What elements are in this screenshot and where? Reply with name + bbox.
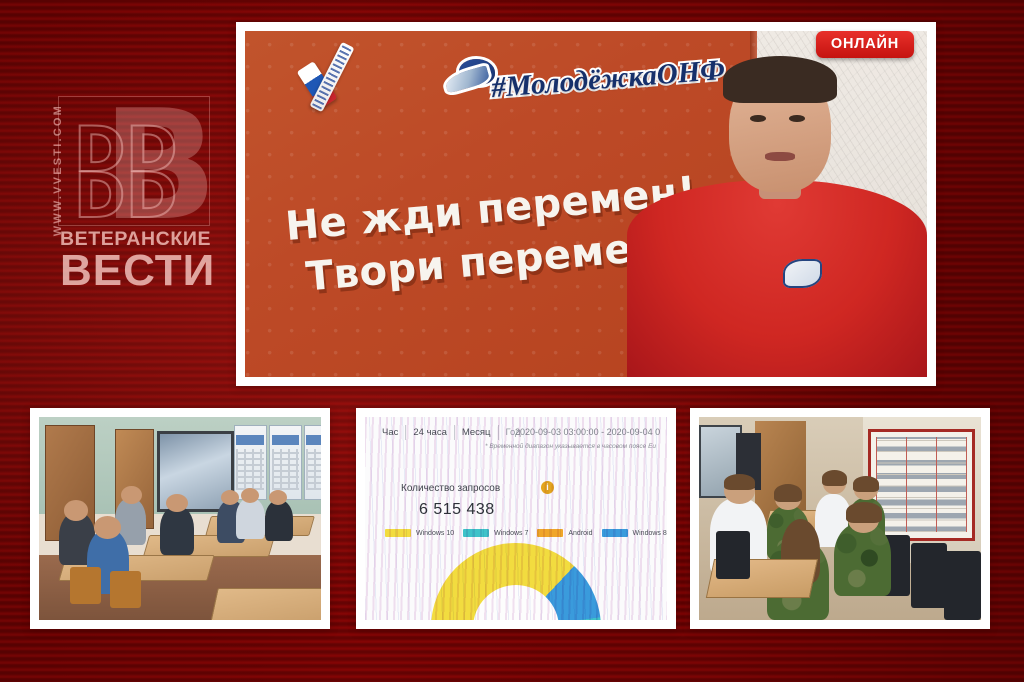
person-hair bbox=[774, 484, 802, 502]
wall-poster bbox=[304, 425, 321, 500]
platforms-donut-chart: Платформы bbox=[431, 543, 601, 620]
classroom-chair bbox=[110, 571, 141, 608]
cadets-photo bbox=[699, 417, 981, 620]
date-range-value[interactable]: 2020-09-03 03:00:00 - 2020-09-04 0 bbox=[515, 427, 660, 437]
thumb-classroom-students[interactable] bbox=[30, 408, 330, 629]
logo-monogram-b2: D bbox=[74, 168, 125, 224]
tab-24-hours[interactable]: 24 часа bbox=[406, 425, 454, 440]
tab-hour[interactable]: Час bbox=[375, 425, 406, 440]
wall-poster bbox=[269, 425, 302, 500]
classroom-chair bbox=[70, 567, 101, 604]
analytics-screen-photo: Час 24 часа Месяц Год 2020-09-03 03:00:0… bbox=[365, 417, 667, 620]
veteranskie-vesti-logo: WWW.VVESTI.COM B D D D D ВЕТЕРАНСКИЕ ВЕС… bbox=[36, 96, 212, 292]
time-range-tabs[interactable]: Час 24 часа Месяц Год bbox=[375, 425, 528, 440]
thumb-cadets-classroom[interactable] bbox=[690, 408, 990, 629]
logo-website-url: WWW.VVESTI.COM bbox=[52, 104, 64, 236]
legend-label-android: Android bbox=[568, 530, 592, 537]
chair bbox=[911, 543, 948, 608]
red-sweatshirt bbox=[627, 180, 927, 377]
person-hair bbox=[846, 502, 883, 522]
tab-month[interactable]: Месяц bbox=[455, 425, 499, 440]
speaker-person bbox=[627, 59, 927, 377]
student bbox=[160, 506, 194, 555]
info-icon[interactable]: i bbox=[541, 481, 554, 494]
timezone-note: * Временной диапазон указывается в часов… bbox=[485, 443, 656, 450]
chair bbox=[716, 531, 750, 580]
legend-swatch-windows-7 bbox=[463, 529, 489, 537]
metric-label: Количество запросов bbox=[401, 483, 500, 494]
person-hair bbox=[723, 56, 837, 104]
person-hair bbox=[853, 476, 880, 492]
logo-title-line2: ВЕСТИ bbox=[60, 248, 215, 294]
person-hair bbox=[822, 470, 847, 486]
legend-swatch-android bbox=[537, 529, 563, 537]
student-head bbox=[121, 486, 142, 504]
student bbox=[265, 500, 293, 541]
student bbox=[236, 498, 264, 539]
main-video-panel[interactable]: #МолодёжкаОНФ Не жди перемен! Твори пере… bbox=[236, 22, 936, 386]
cadet-uniform bbox=[834, 523, 890, 596]
classroom-photo bbox=[39, 417, 321, 620]
metric-value: 6 515 438 bbox=[419, 501, 495, 519]
legend-label-windows-10: Windows 10 bbox=[416, 530, 454, 537]
onf-checkmark-icon bbox=[303, 45, 395, 107]
chair bbox=[944, 551, 981, 620]
student-head bbox=[64, 500, 88, 520]
legend-swatch-windows-10 bbox=[385, 529, 411, 537]
main-video-image: #МолодёжкаОНФ Не жди перемен! Твори пере… bbox=[245, 31, 927, 377]
person-hair bbox=[724, 474, 755, 490]
legend-label-windows-7: Windows 7 bbox=[494, 530, 528, 537]
school-desk bbox=[210, 588, 321, 620]
chart-legend: Windows 10 Windows 7 Android Windows 8.1 bbox=[385, 529, 667, 537]
logo-monogram-b4: D bbox=[126, 168, 177, 224]
student-head bbox=[94, 516, 121, 538]
status-badge-online: ОНЛАЙН bbox=[816, 31, 914, 58]
thumb-analytics-chart[interactable]: Час 24 часа Месяц Год 2020-09-03 03:00:0… bbox=[356, 408, 676, 629]
chest-bird-logo-icon bbox=[783, 259, 822, 288]
legend-swatch-windows-81 bbox=[602, 529, 628, 537]
legend-label-windows-81: Windows 8.1 bbox=[633, 530, 667, 537]
